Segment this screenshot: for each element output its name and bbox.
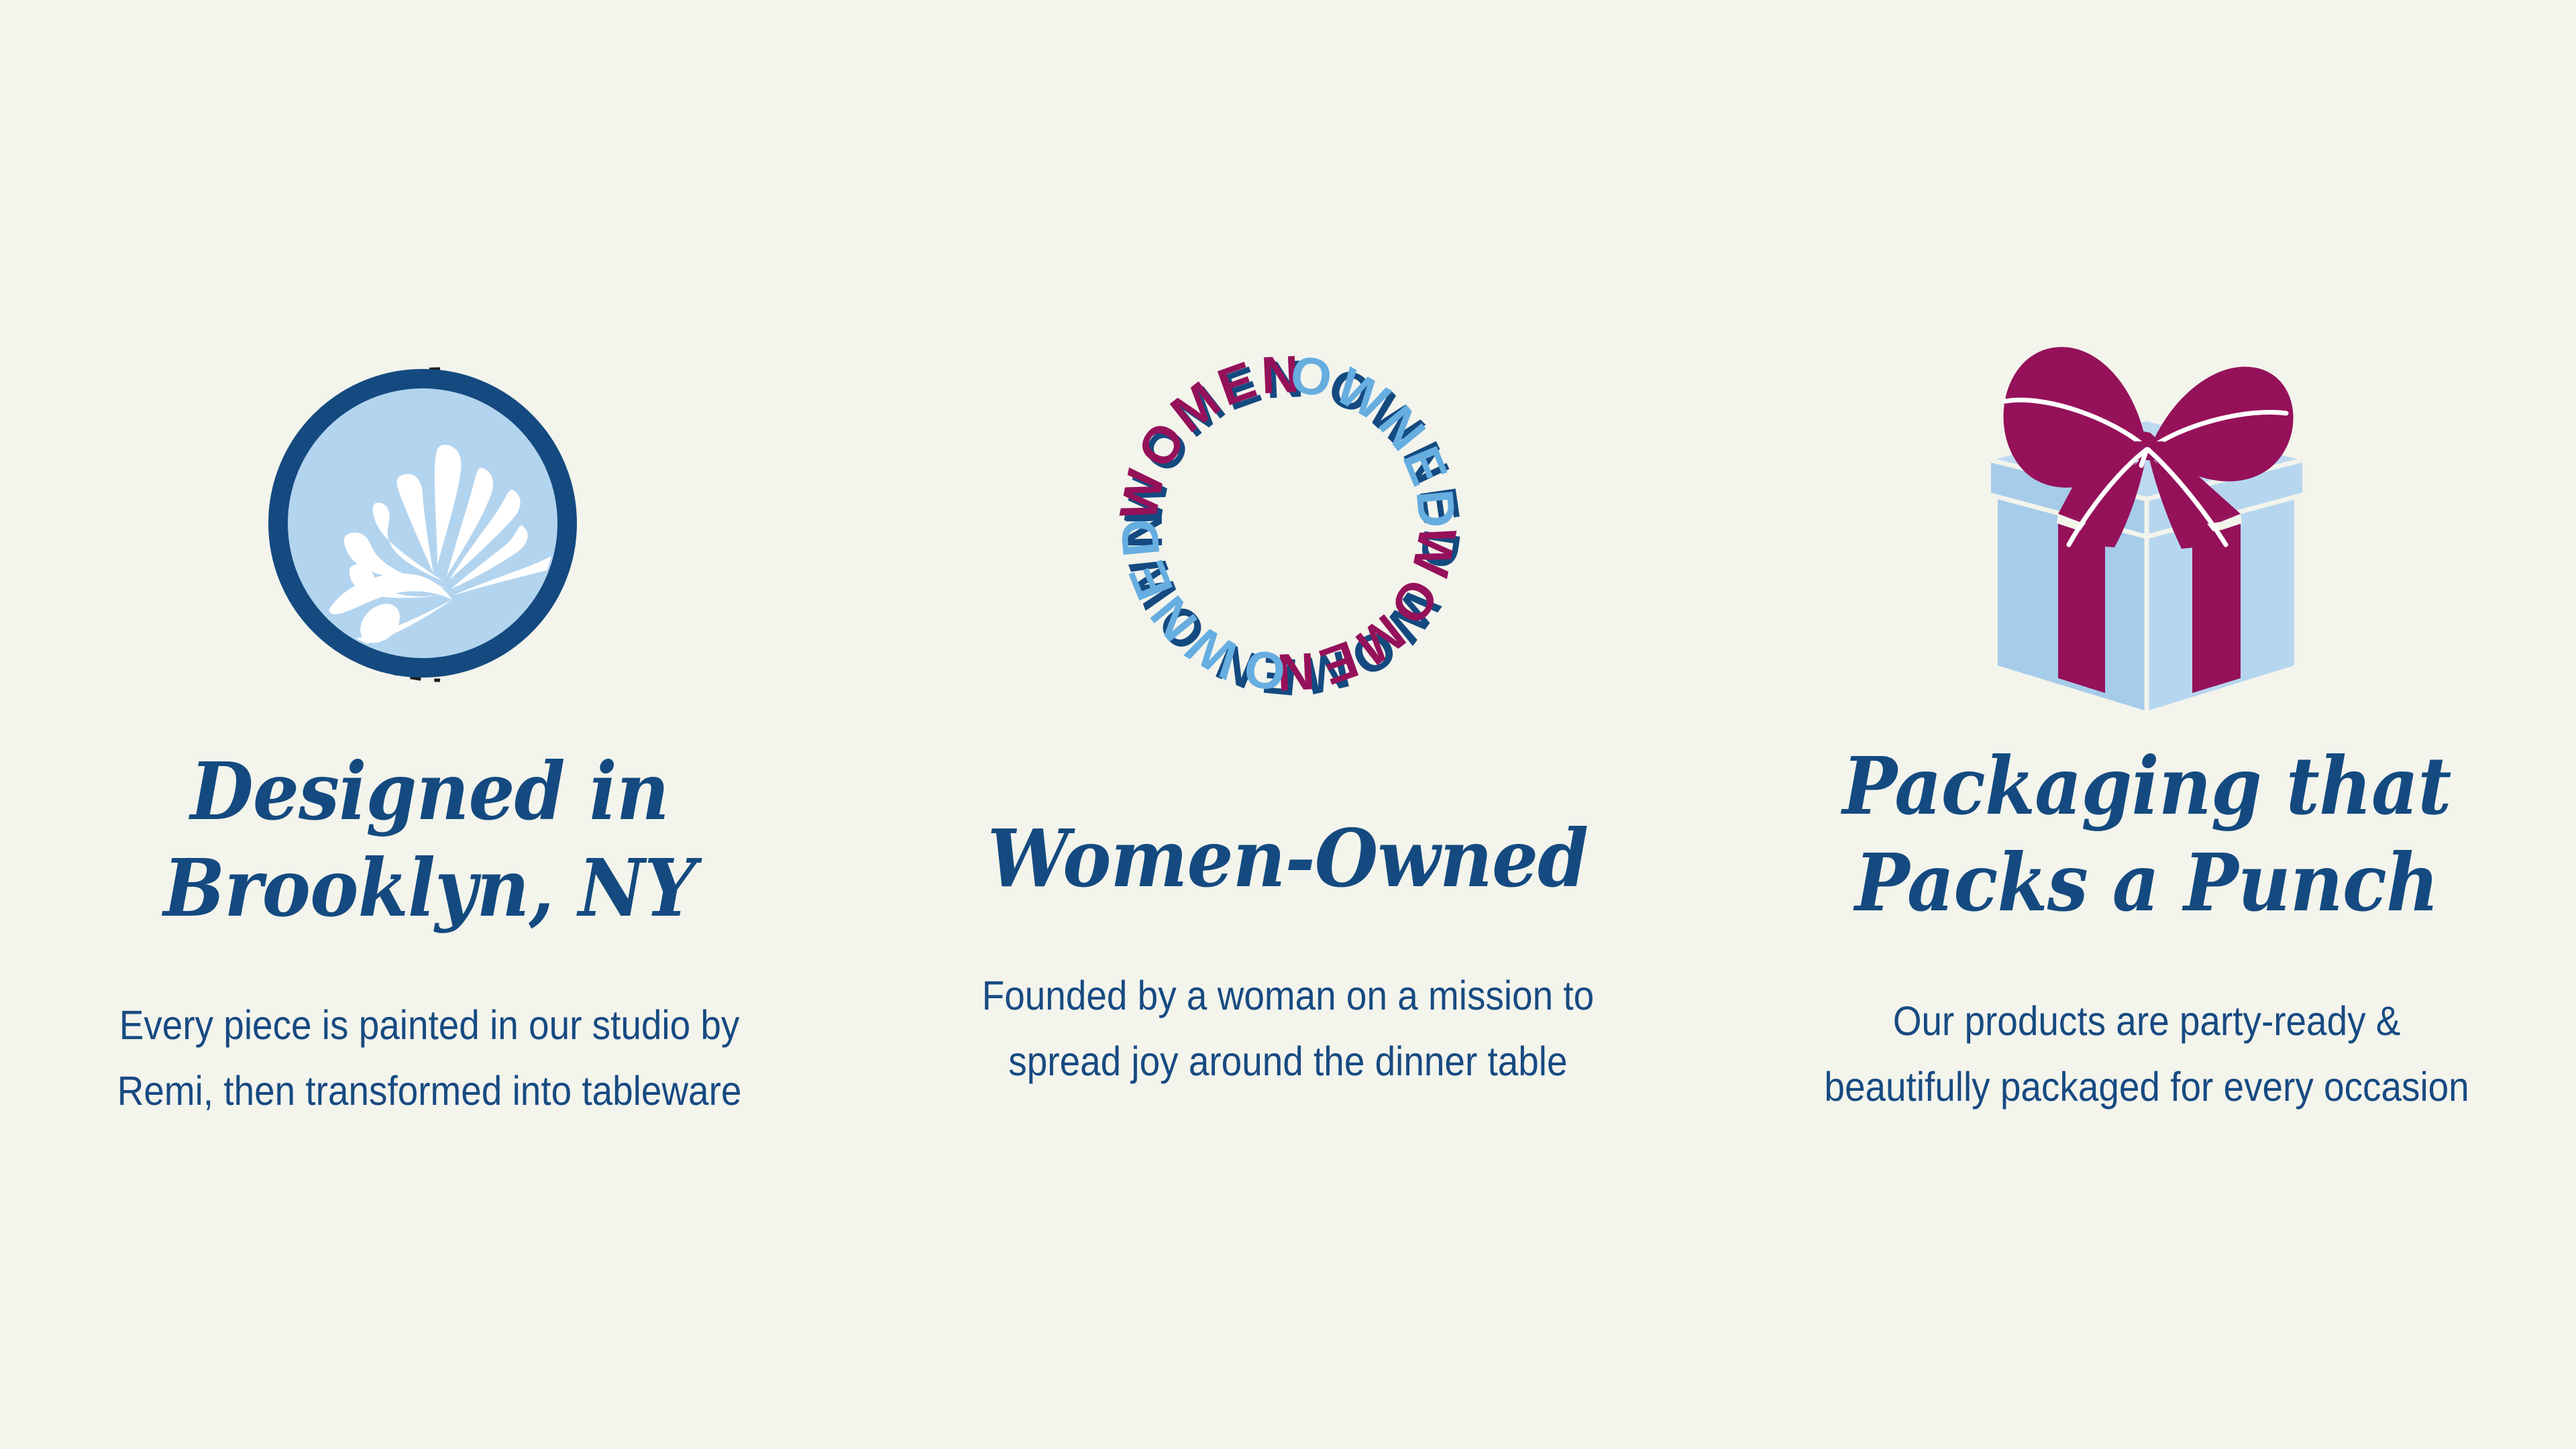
painted-plate-icon-wrap bbox=[215, 315, 644, 731]
feature-body: Founded by a woman on a mission to sprea… bbox=[982, 963, 1594, 1094]
women-owned-badge-icon-wrap: WOMEN OWNED WOMEN OWNED WOMEN OWNED WOME… bbox=[1073, 315, 1503, 731]
feature-heading: Packaging that Packs a Punch bbox=[1842, 738, 2451, 931]
feature-body: Our products are party-ready & beautiful… bbox=[1824, 989, 2469, 1120]
features-section: Designed in Brooklyn, NY Every piece is … bbox=[0, 0, 2576, 1449]
feature-column-packaging: Packaging that Packs a Punch Our product… bbox=[1717, 0, 2576, 1449]
feature-body: Every piece is painted in our studio by … bbox=[117, 993, 742, 1124]
feature-column-women-owned: WOMEN OWNED WOMEN OWNED WOMEN OWNED WOME… bbox=[859, 0, 1717, 1449]
feature-heading: Designed in Brooklyn, NY bbox=[163, 743, 696, 936]
women-owned-circular-badge-icon: WOMEN OWNED WOMEN OWNED WOMEN OWNED WOME… bbox=[1100, 335, 1476, 711]
feature-heading: Women-Owned bbox=[987, 810, 1588, 907]
gift-box-icon bbox=[1945, 322, 2348, 724]
gift-box-icon-wrap bbox=[1932, 315, 2361, 731]
svg-text:OWNED: OWNED bbox=[1286, 343, 1467, 555]
feature-column-designed-in-brooklyn: Designed in Brooklyn, NY Every piece is … bbox=[0, 0, 859, 1449]
painted-plate-icon bbox=[221, 322, 637, 724]
